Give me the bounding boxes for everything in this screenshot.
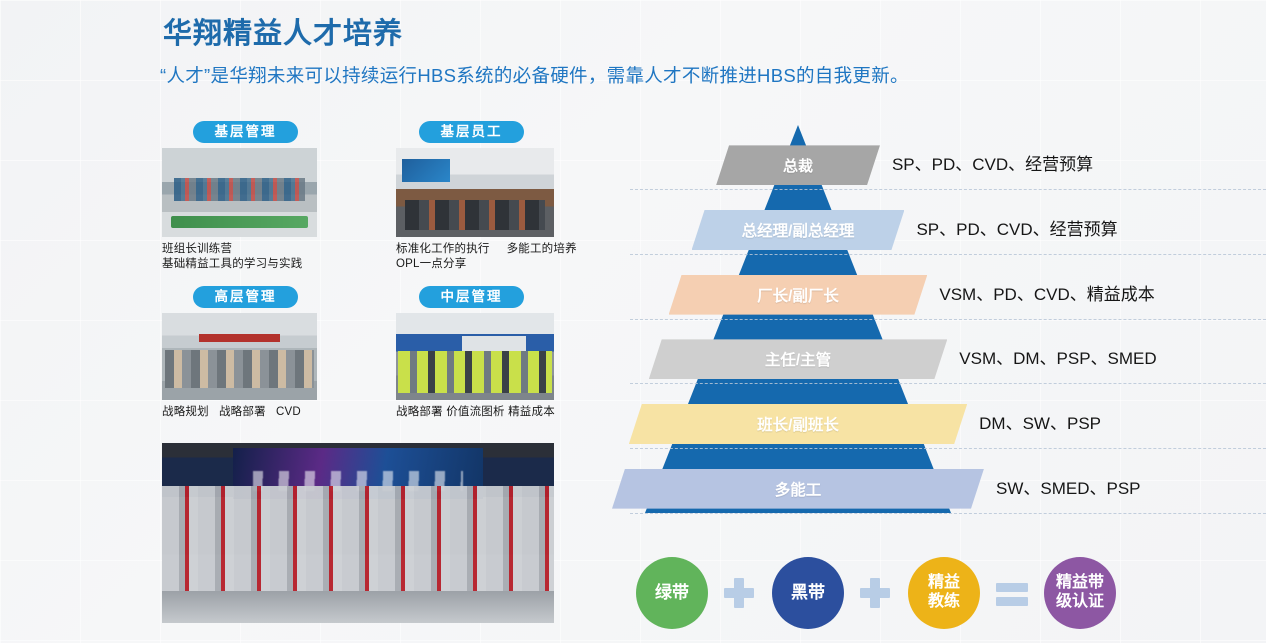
pyramid-band-label: 班长/副班长 bbox=[757, 413, 839, 435]
pyramid-band-tools-2: SP、PD、CVD、经营预算 bbox=[916, 219, 1117, 241]
circle-label-line: 教练 bbox=[928, 593, 960, 612]
pyramid-band-label: 主任/主管 bbox=[765, 348, 831, 370]
circle-label-line: 精益带 bbox=[1056, 574, 1104, 593]
pyramid-band-tools-5: DM、SW、PSP bbox=[979, 413, 1101, 435]
pyramid-band-label: 总经理/副总经理 bbox=[742, 219, 855, 241]
badge-middle-management: 中层管理 bbox=[419, 286, 524, 308]
badge-frontline-management: 基层管理 bbox=[193, 121, 298, 143]
pyramid-band-5[interactable]: 班长/副班长 bbox=[629, 404, 967, 444]
photo-senior-management-conference bbox=[162, 313, 317, 400]
photo-frontline-staff-meeting bbox=[396, 148, 554, 237]
green-belt-circle[interactable]: 绿带 bbox=[636, 557, 708, 629]
pyramid-separator-3 bbox=[630, 319, 1266, 320]
lean-belt-certification-circle[interactable]: 精益带级认证 bbox=[1044, 557, 1116, 629]
pyramid-band-1[interactable]: 总裁 bbox=[716, 145, 880, 185]
caption-frontline-staff: 标准化工作的执行 多能工的培养 OPL一点分享 bbox=[396, 242, 626, 272]
slide-canvas: 华翔精益人才培养 “人才”是华翔未来可以持续运行HBS系统的必备硬件，需靠人才不… bbox=[0, 0, 1266, 643]
circle-label-line: 精益 bbox=[928, 574, 960, 593]
caption-senior-management: 战略规划 战略部署 CVD bbox=[162, 405, 382, 420]
talent-pyramid-chart: 总裁SP、PD、CVD、经营预算总经理/副总经理SP、PD、CVD、经营预算厂长… bbox=[630, 118, 1266, 523]
plus-bar-vertical bbox=[870, 578, 880, 608]
photo-middle-management-workshop bbox=[396, 313, 554, 400]
pyramid-separator-5 bbox=[630, 448, 1266, 449]
pyramid-band-4[interactable]: 主任/主管 bbox=[649, 339, 948, 379]
pyramid-band-tools-3: VSM、PD、CVD、精益成本 bbox=[939, 284, 1154, 306]
circle-label-line: 级认证 bbox=[1056, 593, 1104, 612]
caption-frontline-management: 班组长训练营 基础精益工具的学习与实践 bbox=[162, 242, 362, 272]
pyramid-separator-1 bbox=[630, 189, 1266, 190]
pyramid-band-tools-1: SP、PD、CVD、经营预算 bbox=[892, 154, 1093, 176]
pyramid-separator-4 bbox=[630, 383, 1266, 384]
plus-operator-1 bbox=[724, 578, 754, 608]
pyramid-separator-6 bbox=[630, 513, 1266, 514]
group-people bbox=[162, 486, 554, 594]
photo-group-team bbox=[162, 443, 554, 623]
equals-bar-top bbox=[996, 583, 1028, 592]
caption-middle-management: 战略部署 价值流图析 精益成本 bbox=[396, 405, 626, 420]
pyramid-band-6[interactable]: 多能工 bbox=[612, 469, 984, 509]
pyramid-separator-2 bbox=[630, 254, 1266, 255]
circle-label-line: 黑带 bbox=[791, 583, 825, 603]
pyramid-band-2[interactable]: 总经理/副总经理 bbox=[692, 210, 905, 250]
pyramid-band-tools-6: SW、SMED、PSP bbox=[996, 478, 1141, 500]
floor bbox=[162, 591, 554, 623]
page-title: 华翔精益人才培养 bbox=[163, 10, 403, 52]
belt-formula: 绿带 黑带 精益教练 精益带级认证 bbox=[636, 551, 1136, 635]
badge-senior-management: 高层管理 bbox=[193, 286, 298, 308]
plus-operator-2 bbox=[860, 578, 890, 608]
pyramid-band-3[interactable]: 厂长/副厂长 bbox=[669, 275, 928, 315]
photo-frontline-management-training bbox=[162, 148, 317, 237]
equals-operator bbox=[996, 578, 1026, 608]
equals-bar-bottom bbox=[996, 597, 1028, 606]
pyramid-band-label: 总裁 bbox=[783, 155, 813, 176]
badge-frontline-staff: 基层员工 bbox=[419, 121, 524, 143]
page-subtitle: “人才”是华翔未来可以持续运行HBS系统的必备硬件，需靠人才不断推进HBS的自我… bbox=[160, 62, 909, 88]
pyramid-band-label: 厂长/副厂长 bbox=[757, 284, 839, 306]
pyramid-band-label: 多能工 bbox=[775, 478, 822, 500]
plus-bar-vertical bbox=[734, 578, 744, 608]
black-belt-circle[interactable]: 黑带 bbox=[772, 557, 844, 629]
pyramid-band-tools-4: VSM、DM、PSP、SMED bbox=[959, 348, 1156, 370]
circle-label-line: 绿带 bbox=[655, 583, 689, 603]
lean-coach-circle[interactable]: 精益教练 bbox=[908, 557, 980, 629]
